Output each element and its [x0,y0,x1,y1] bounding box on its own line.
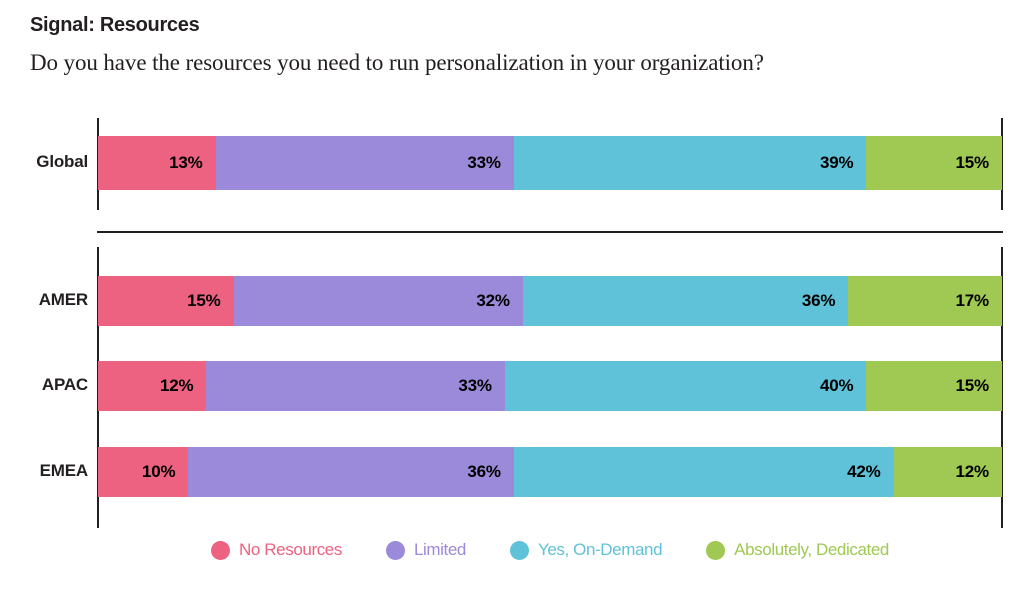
bar-segment-value: 42% [847,462,880,482]
bar-segment-value: 33% [467,153,500,173]
legend-label: Limited [414,540,466,560]
bar-segment[interactable]: 17% [848,276,1002,326]
bar-segment[interactable]: 12% [98,361,206,411]
legend-label: No Resources [239,540,342,560]
legend-swatch-icon [510,541,529,560]
legend-item[interactable]: No Resources [211,540,342,560]
bar-segment[interactable]: 15% [866,361,1002,411]
bar-segment-value: 12% [956,462,989,482]
bar-track-global: 13%33%39%15% [98,136,1002,190]
bar-segment[interactable]: 40% [505,361,867,411]
bar-segment-value: 39% [820,153,853,173]
row-label-global: Global [0,152,88,172]
bar-segment[interactable]: 15% [98,276,234,326]
legend-swatch-icon [211,541,230,560]
bar-segment[interactable]: 36% [523,276,848,326]
legend-label: Yes, On-Demand [538,540,662,560]
bar-segment-value: 40% [820,376,853,396]
bar-segment-value: 36% [467,462,500,482]
bar-segment[interactable]: 36% [188,447,513,497]
bar-track-apac: 12%33%40%15% [98,361,1002,411]
bar-segment-value: 15% [956,153,989,173]
row-label-emea: EMEA [0,461,88,481]
bar-track-emea: 10%36%42%12% [98,447,1002,497]
bar-segment-value: 17% [956,291,989,311]
bar-segment[interactable]: 12% [894,447,1002,497]
chart-legend: No ResourcesLimitedYes, On-DemandAbsolut… [98,540,1002,560]
legend-item[interactable]: Yes, On-Demand [510,540,662,560]
bar-segment-value: 33% [458,376,491,396]
bar-segment[interactable]: 33% [206,361,504,411]
bar-segment-value: 15% [187,291,220,311]
group-separator [97,231,1003,233]
legend-swatch-icon [706,541,725,560]
bar-segment[interactable]: 13% [98,136,216,190]
bar-segment-value: 12% [160,376,193,396]
row-label-amer: AMER [0,290,88,310]
stacked-bar-chart: Global13%33%39%15%AMER15%32%36%17%APAC12… [0,0,1024,595]
legend-swatch-icon [386,541,405,560]
legend-item[interactable]: Absolutely, Dedicated [706,540,889,560]
bar-segment-value: 32% [476,291,509,311]
bar-segment[interactable]: 15% [866,136,1002,190]
bar-segment-value: 10% [142,462,175,482]
bar-segment-value: 36% [802,291,835,311]
bar-segment[interactable]: 39% [514,136,867,190]
bar-segment-value: 15% [956,376,989,396]
legend-label: Absolutely, Dedicated [734,540,889,560]
bar-segment-value: 13% [169,153,202,173]
bar-track-amer: 15%32%36%17% [98,276,1002,326]
legend-item[interactable]: Limited [386,540,466,560]
bar-segment[interactable]: 32% [234,276,523,326]
bar-segment[interactable]: 42% [514,447,894,497]
bar-segment[interactable]: 33% [216,136,514,190]
row-label-apac: APAC [0,375,88,395]
bar-segment[interactable]: 10% [98,447,188,497]
